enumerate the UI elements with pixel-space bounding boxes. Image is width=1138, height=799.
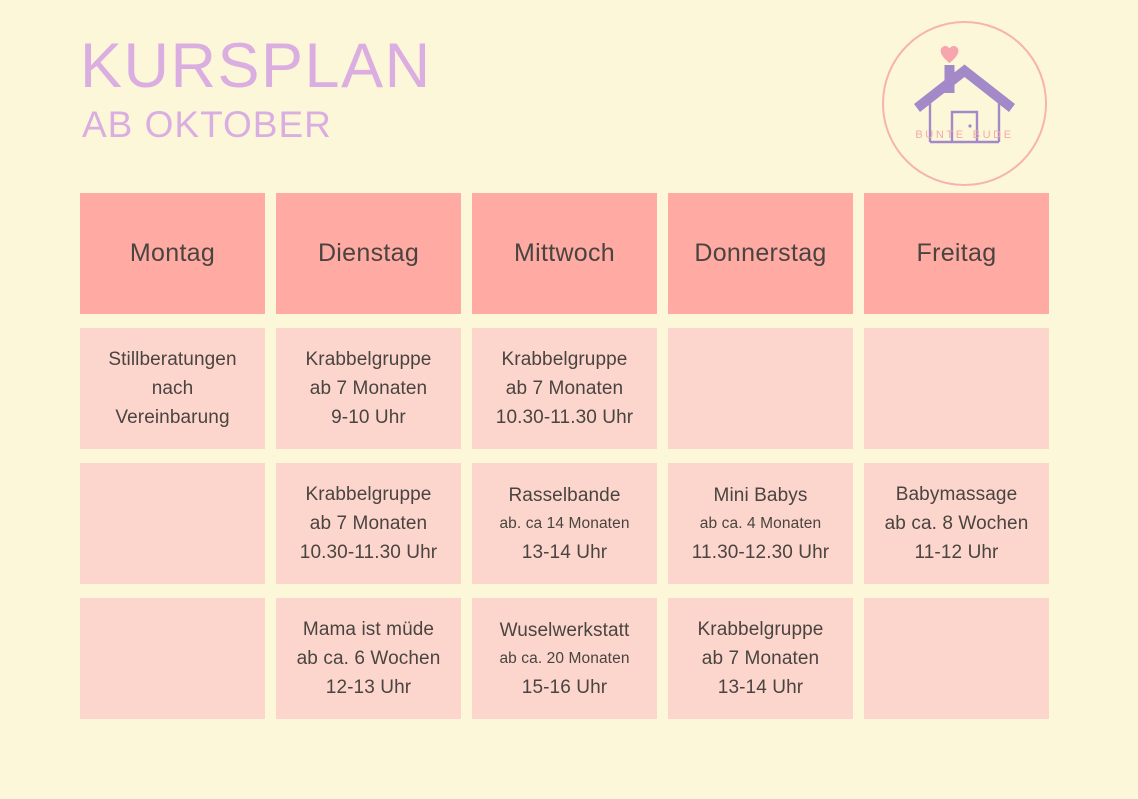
course-age: ab ca. 8 Wochen — [885, 509, 1029, 538]
course-age: ab ca. 4 Monaten — [700, 510, 821, 538]
course-cell: Wuselwerkstatt ab ca. 20 Monaten 15-16 U… — [472, 598, 657, 719]
course-cell-empty — [80, 463, 265, 584]
course-age: ab 7 Monaten — [702, 644, 819, 673]
course-age: ab 7 Monaten — [310, 374, 427, 403]
poster-header: KURSPLAN AB OKTOBER — [80, 34, 880, 148]
schedule-grid: Montag Dienstag Mittwoch Donnerstag Frei… — [80, 193, 1049, 719]
course-name: Wuselwerkstatt — [500, 616, 630, 645]
course-cell: Krabbelgruppe ab 7 Monaten 10.30-11.30 U… — [276, 463, 461, 584]
day-header-donnerstag: Donnerstag — [668, 193, 853, 314]
logo: Bunte Bude — [882, 21, 1047, 186]
day-header-mittwoch: Mittwoch — [472, 193, 657, 314]
course-age: ab 7 Monaten — [310, 509, 427, 538]
page-subtitle: AB OKTOBER — [82, 102, 880, 148]
course-cell: Krabbelgruppe ab 7 Monaten 13-14 Uhr — [668, 598, 853, 719]
day-label: Dienstag — [318, 239, 419, 268]
kursplan-poster: KURSPLAN AB OKTOBER Bunte Bude Montag Di… — [0, 0, 1138, 799]
course-age: ab ca. 20 Monaten — [499, 645, 629, 673]
course-age: ab 7 Monaten — [506, 374, 623, 403]
course-cell-empty — [668, 328, 853, 449]
course-age: ab. ca 14 Monaten — [499, 510, 629, 538]
course-time: 12-13 Uhr — [326, 673, 411, 702]
course-name: Babymassage — [896, 480, 1018, 509]
course-cell: Stillberatungen nach Vereinbarung — [80, 328, 265, 449]
course-name: Krabbelgruppe — [698, 615, 824, 644]
course-name: Rasselbande — [508, 481, 620, 510]
course-time: 13-14 Uhr — [522, 538, 607, 567]
course-cell-empty — [864, 328, 1049, 449]
course-age: nach — [152, 374, 194, 403]
course-time: 11.30-12.30 Uhr — [692, 538, 829, 567]
day-header-dienstag: Dienstag — [276, 193, 461, 314]
course-name: Krabbelgruppe — [306, 480, 432, 509]
course-time: Vereinbarung — [115, 403, 229, 432]
logo-wordmark: Bunte Bude — [882, 125, 1047, 143]
day-label: Montag — [130, 239, 215, 268]
day-label: Mittwoch — [514, 239, 615, 268]
course-cell: Krabbelgruppe ab 7 Monaten 10.30-11.30 U… — [472, 328, 657, 449]
day-label: Freitag — [917, 239, 997, 268]
course-cell: Rasselbande ab. ca 14 Monaten 13-14 Uhr — [472, 463, 657, 584]
day-header-montag: Montag — [80, 193, 265, 314]
course-time: 13-14 Uhr — [718, 673, 803, 702]
course-age: ab ca. 6 Wochen — [297, 644, 441, 673]
course-name: Krabbelgruppe — [502, 345, 628, 374]
course-time: 9-10 Uhr — [331, 403, 406, 432]
course-cell: Mini Babys ab ca. 4 Monaten 11.30-12.30 … — [668, 463, 853, 584]
course-cell: Krabbelgruppe ab 7 Monaten 9-10 Uhr — [276, 328, 461, 449]
course-cell-empty — [864, 598, 1049, 719]
course-name: Mama ist müde — [303, 615, 434, 644]
course-cell: Babymassage ab ca. 8 Wochen 11-12 Uhr — [864, 463, 1049, 584]
course-time: 10.30-11.30 Uhr — [496, 403, 633, 432]
day-label: Donnerstag — [694, 239, 826, 268]
day-header-freitag: Freitag — [864, 193, 1049, 314]
course-name: Mini Babys — [714, 481, 808, 510]
course-time: 10.30-11.30 Uhr — [300, 538, 437, 567]
course-time: 15-16 Uhr — [522, 673, 607, 702]
course-cell-empty — [80, 598, 265, 719]
course-name: Krabbelgruppe — [306, 345, 432, 374]
course-cell: Mama ist müde ab ca. 6 Wochen 12-13 Uhr — [276, 598, 461, 719]
page-title: KURSPLAN — [80, 34, 880, 98]
house-icon — [882, 21, 1047, 186]
heart-shape — [941, 46, 959, 63]
course-time: 11-12 Uhr — [915, 538, 999, 567]
course-name: Stillberatungen — [108, 345, 236, 374]
